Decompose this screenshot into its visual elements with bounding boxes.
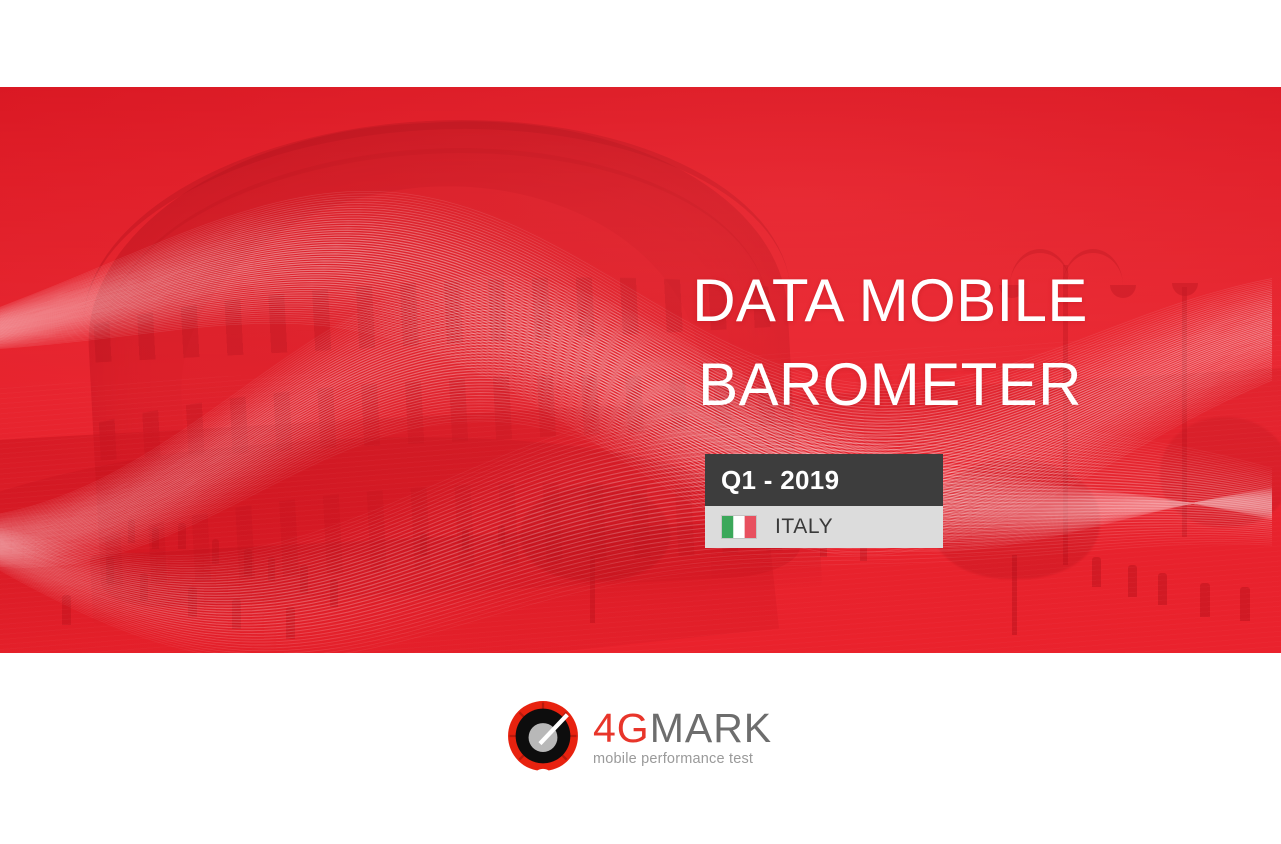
speedometer-gauge-icon [505, 698, 581, 774]
country-label: ITALY [775, 515, 833, 539]
period-label: Q1 - 2019 [721, 465, 839, 496]
country-bar: ITALY [705, 506, 943, 548]
page-title: DATA MOBILE BAROMETER [620, 259, 1160, 427]
period-bar: Q1 - 2019 [705, 454, 943, 506]
period-country-badge: Q1 - 2019 ITALY [705, 454, 943, 548]
logo-text-block: 4GMARK mobile performance test [593, 705, 772, 767]
brand-logo: 4GMARK mobile performance test [505, 697, 785, 775]
logo-wordmark-secondary: MARK [650, 705, 772, 751]
logo-wordmark: 4GMARK [593, 705, 772, 751]
logo-tagline: mobile performance test [593, 751, 772, 767]
logo-wordmark-primary: 4G [593, 705, 650, 751]
hero-banner: DATA MOBILE BAROMETER Q1 - 2019 ITALY [0, 87, 1281, 653]
italy-flag-icon [721, 515, 757, 539]
